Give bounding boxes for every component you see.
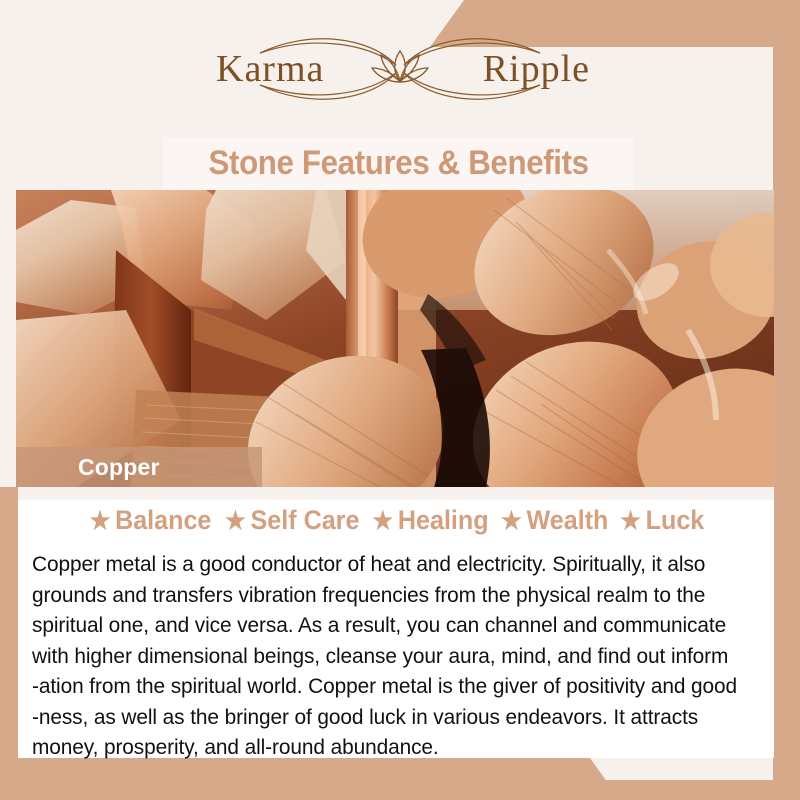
benefits-list: ★ Balance ★ Self Care ★ Healing ★ Wealth…: [18, 505, 774, 536]
frame-accent-left: [0, 487, 18, 800]
benefit-item: ★ Wealth: [501, 505, 608, 536]
star-icon: ★: [373, 506, 394, 536]
benefit-item: ★ Balance: [89, 505, 211, 536]
star-icon: ★: [225, 506, 246, 536]
description-line: with higher dimensional beings, cleanse …: [32, 641, 740, 672]
title-banner: Stone Features & Benefits: [163, 137, 634, 190]
stone-name-badge: Copper: [16, 447, 262, 487]
hero-image: Copper: [16, 190, 774, 487]
description-text: Copper metal is a good conductor of heat…: [32, 549, 762, 763]
benefit-item: ★ Healing: [373, 505, 489, 536]
content-panel: ★ Balance ★ Self Care ★ Healing ★ Wealth…: [18, 487, 774, 758]
benefit-label: Balance: [115, 505, 211, 536]
logo-word-karma: Karma: [216, 47, 324, 91]
star-icon: ★: [89, 506, 110, 536]
benefit-label: Wealth: [527, 505, 609, 536]
logo-mark: Karma Ripple: [200, 23, 600, 115]
star-icon: ★: [620, 506, 641, 536]
logo-word-ripple: Ripple: [483, 47, 590, 91]
benefit-item: ★ Self Care: [225, 505, 359, 536]
description-line: money, prosperity, and all-round abundan…: [32, 732, 740, 763]
benefit-label: Healing: [398, 505, 489, 536]
description-line: -ness, as well as the bringer of good lu…: [32, 702, 740, 733]
star-icon: ★: [501, 506, 522, 536]
benefit-label: Luck: [645, 505, 704, 536]
infographic-page: Karma Ripple Stone Features & Benefits: [0, 0, 800, 800]
frame-accent-right: [773, 47, 800, 800]
benefit-label: Self Care: [250, 505, 359, 536]
description-line: grounds and transfers vibration frequenc…: [32, 580, 740, 611]
brand-logo: Karma Ripple: [0, 0, 800, 138]
benefit-item: ★ Luck: [620, 505, 704, 536]
logo-wordmark: Karma Ripple: [200, 23, 600, 115]
description-line: spiritual one, and vice versa. As a resu…: [32, 610, 740, 641]
description-line: -ation from the spiritual world. Copper …: [32, 671, 740, 702]
page-title: Stone Features & Benefits: [208, 144, 588, 183]
description-line: Copper metal is a good conductor of heat…: [32, 549, 740, 580]
panel-top-divider: [18, 487, 774, 500]
copper-rods-illustration: [16, 190, 774, 487]
stone-name: Copper: [78, 454, 160, 481]
